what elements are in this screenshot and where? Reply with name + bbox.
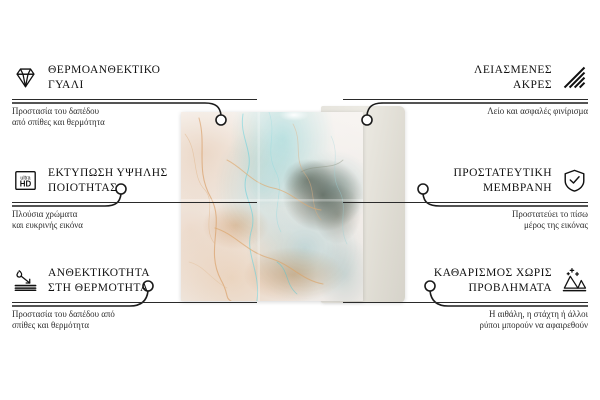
feature-heat-resistant-glass: ΘΕΡΜΟΑΝΘΕΚΤΙΚΟ ΓΥΑΛΙ Προστασία του δαπέδ… <box>12 63 257 129</box>
heat-resistance-icon <box>12 267 39 294</box>
feature-easy-cleaning: ΚΑΘΑΡΙΣΜΟΣ ΧΩΡΙΣ ΠΡΟΒΛΗΜΑΤΑ Η αιθάλη, η … <box>343 266 588 332</box>
feature-title: ΛΕΙΑΣΜΕΝΕΣ ΑΚΡΕΣ <box>474 63 552 92</box>
feature-header: ΚΑΘΑΡΙΣΜΟΣ ΧΩΡΙΣ ΠΡΟΒΛΗΜΑΤΑ <box>343 266 588 295</box>
feature-title: ΘΕΡΜΟΑΝΘΕΚΤΙΚΟ ΓΥΑΛΙ <box>48 63 160 92</box>
feature-title: ΚΑΘΑΡΙΣΜΟΣ ΧΩΡΙΣ ΠΡΟΒΛΗΜΑΤΑ <box>434 266 552 295</box>
diamond-icon <box>12 64 39 91</box>
divider <box>12 202 257 203</box>
divider <box>343 302 588 303</box>
easy-clean-icon <box>561 267 588 294</box>
feature-polished-edges: ΛΕΙΑΣΜΕΝΕΣ ΑΚΡΕΣ Λείο και ασφαλές φινίρι… <box>343 63 588 117</box>
divider <box>12 99 257 100</box>
feature-title: ΠΡΟΣΤΑΤΕΥΤΙΚΗ ΜΕΜΒΡΑΝΗ <box>453 166 552 195</box>
feature-protective-membrane: ΠΡΟΣΤΑΤΕΥΤΙΚΗ ΜΕΜΒΡΑΝΗ Προστατεύει το πί… <box>343 166 588 232</box>
feature-header: ΠΡΟΣΤΑΤΕΥΤΙΚΗ ΜΕΜΒΡΑΝΗ <box>343 166 588 195</box>
feature-heat-resistance: ΑΝΘΕΚΤΙΚΟΤΗΤΑ ΣΤΗ ΘΕΡΜΟΤΗΤΑ Προστασία το… <box>12 266 257 332</box>
svg-text:HD: HD <box>20 180 32 189</box>
shield-check-icon <box>561 167 588 194</box>
polished-edges-icon <box>561 64 588 91</box>
feature-header: ΑΝΘΕΚΤΙΚΟΤΗΤΑ ΣΤΗ ΘΕΡΜΟΤΗΤΑ <box>12 266 257 295</box>
feature-description: Προστασία του δαπέδου από σπίθες και θερ… <box>12 309 257 332</box>
ultra-hd-icon: ultra HD <box>12 167 39 194</box>
feature-description: Η αιθάλη, η στάχτη ή άλλοι ρύποι μπορούν… <box>343 309 588 332</box>
divider <box>343 202 588 203</box>
feature-header: ΛΕΙΑΣΜΕΝΕΣ ΑΚΡΕΣ <box>343 63 588 92</box>
divider <box>12 302 257 303</box>
feature-title: ΑΝΘΕΚΤΙΚΟΤΗΤΑ ΣΤΗ ΘΕΡΜΟΤΗΤΑ <box>48 266 150 295</box>
feature-title: ΕΚΤΥΠΩΣΗ ΥΨΗΛΗΣ ΠΟΙΟΤΗΤΑΣ <box>48 166 168 195</box>
divider <box>343 99 588 100</box>
infographic-stage: ΘΕΡΜΟΑΝΘΕΚΤΙΚΟ ΓΥΑΛΙ Προστασία του δαπέδ… <box>0 0 600 400</box>
feature-description: Προστασία του δαπέδου από σπίθες και θερ… <box>12 106 257 129</box>
feature-description: Λείο και ασφαλές φινίρισμα <box>343 106 588 117</box>
feature-high-quality-print: ultra HD ΕΚΤΥΠΩΣΗ ΥΨΗΛΗΣ ΠΟΙΟΤΗΤΑΣ Πλούσ… <box>12 166 257 232</box>
feature-description: Πλούσια χρώματα και ευκρινής εικόνα <box>12 209 257 232</box>
feature-header: ultra HD ΕΚΤΥΠΩΣΗ ΥΨΗΛΗΣ ΠΟΙΟΤΗΤΑΣ <box>12 166 257 195</box>
feature-description: Προστατεύει το πίσω μέρος της εικόνας <box>343 209 588 232</box>
feature-header: ΘΕΡΜΟΑΝΘΕΚΤΙΚΟ ΓΥΑΛΙ <box>12 63 257 92</box>
